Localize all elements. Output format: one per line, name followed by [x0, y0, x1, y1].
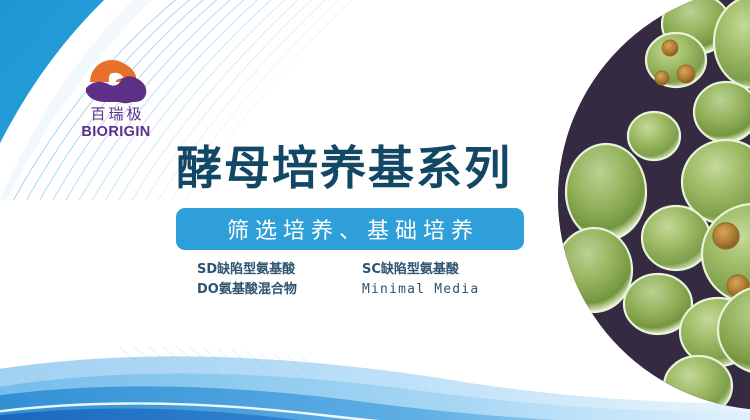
arc-hairlines — [6, 0, 383, 240]
wave-separator — [0, 403, 620, 420]
product-list: SD缺陷型氨基酸 SC缺陷型氨基酸 DO氨基酸混合物 Minimal Media — [197, 261, 479, 298]
logo-english-name: BIORIGIN — [68, 124, 164, 141]
logo-chinese-name: 百瑞极 — [68, 106, 164, 123]
product-item: Minimal Media — [362, 281, 479, 298]
wave-deepest — [0, 408, 750, 420]
biorigin-sun-wave-mark — [80, 52, 152, 104]
yeast-sem-photo — [558, 0, 750, 410]
subtitle-badge-label: 筛选培养、基础培养 — [221, 213, 479, 245]
brand-logo[interactable]: 百瑞极 BIORIGIN — [68, 52, 164, 140]
subtitle-badge: 筛选培养、基础培养 — [176, 208, 524, 250]
product-item: SC缺陷型氨基酸 — [362, 261, 479, 278]
yeast-cells-illustration — [558, 0, 750, 410]
banner-root: 百瑞极 BIORIGIN 酵母培养基系列 筛选培养、基础培养 SD缺陷型氨基酸 … — [0, 0, 750, 420]
product-item: SD缺陷型氨基酸 — [197, 261, 362, 278]
product-item: DO氨基酸混合物 — [197, 281, 362, 298]
page-title: 酵母培养基系列 — [176, 142, 512, 195]
